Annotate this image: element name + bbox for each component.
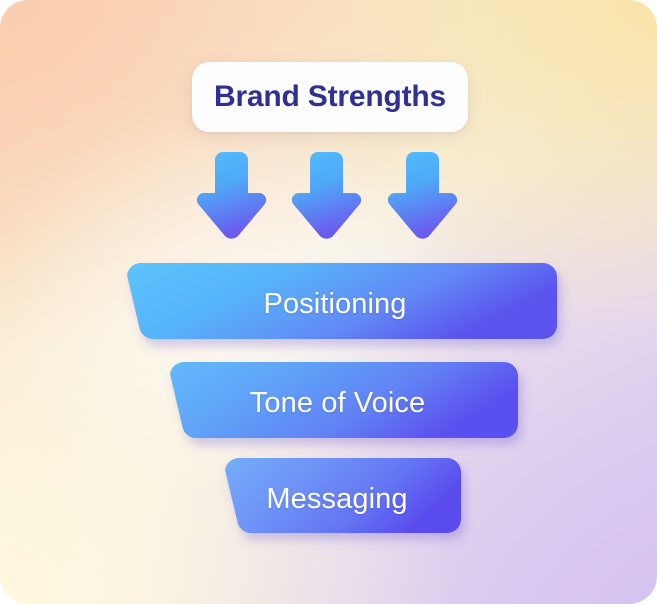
arrow-down-icon-2 (291, 148, 362, 243)
funnel-stage-messaging[interactable]: Messaging (207, 450, 467, 545)
diagram-canvas: Brand Strengths (0, 0, 657, 604)
arrow-down-icon-1 (196, 148, 267, 243)
arrow-down-icon-3 (387, 148, 458, 243)
brand-strengths-card[interactable]: Brand Strengths (192, 62, 468, 132)
funnel-stage-positioning[interactable]: Positioning (105, 255, 565, 350)
brand-strengths-title: Brand Strengths (214, 82, 446, 112)
funnel-stage-tone-of-voice[interactable]: Tone of Voice (150, 354, 525, 449)
arrow-row (0, 148, 657, 246)
